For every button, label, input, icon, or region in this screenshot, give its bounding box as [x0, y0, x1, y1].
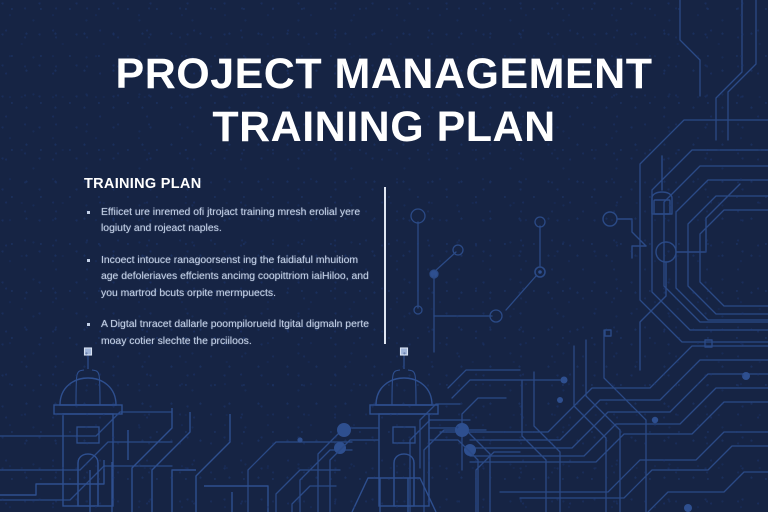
section-subheading: TRAINING PLAN — [84, 176, 376, 192]
list-item: Incoect intouce ranagoorsenst ing the fa… — [84, 253, 376, 302]
vertical-divider — [384, 187, 386, 344]
list-item-text: A Digtal tnracet dallarle poompilorueid … — [101, 319, 369, 346]
list-item: Effiicet ure inremed ofi jtrojact traini… — [84, 205, 376, 238]
page-title: PROJECT MANAGEMENT TRAINING PLAN — [0, 48, 768, 155]
list-item: A Digtal tnracet dallarle poompilorueid … — [84, 317, 376, 350]
poster-slide: PROJECT MANAGEMENT TRAINING PLAN TRAININ… — [0, 0, 768, 512]
list-item-text: Incoect intouce ranagoorsenst ing the fa… — [101, 255, 369, 299]
content-panel: TRAINING PLAN Effiicet ure inremed ofi j… — [84, 176, 376, 350]
bullet-list: Effiicet ure inremed ofi jtrojact traini… — [84, 205, 376, 350]
bullet-marker-icon — [87, 323, 90, 326]
dome-tower-left — [54, 348, 122, 506]
dome-tower-center — [370, 348, 438, 506]
title-line-2: TRAINING PLAN — [0, 101, 768, 154]
bullet-marker-icon — [87, 259, 90, 262]
list-item-text: Effiicet ure inremed ofi jtrojact traini… — [101, 207, 360, 234]
bullet-marker-icon — [87, 211, 90, 214]
title-line-1: PROJECT MANAGEMENT — [0, 48, 768, 101]
